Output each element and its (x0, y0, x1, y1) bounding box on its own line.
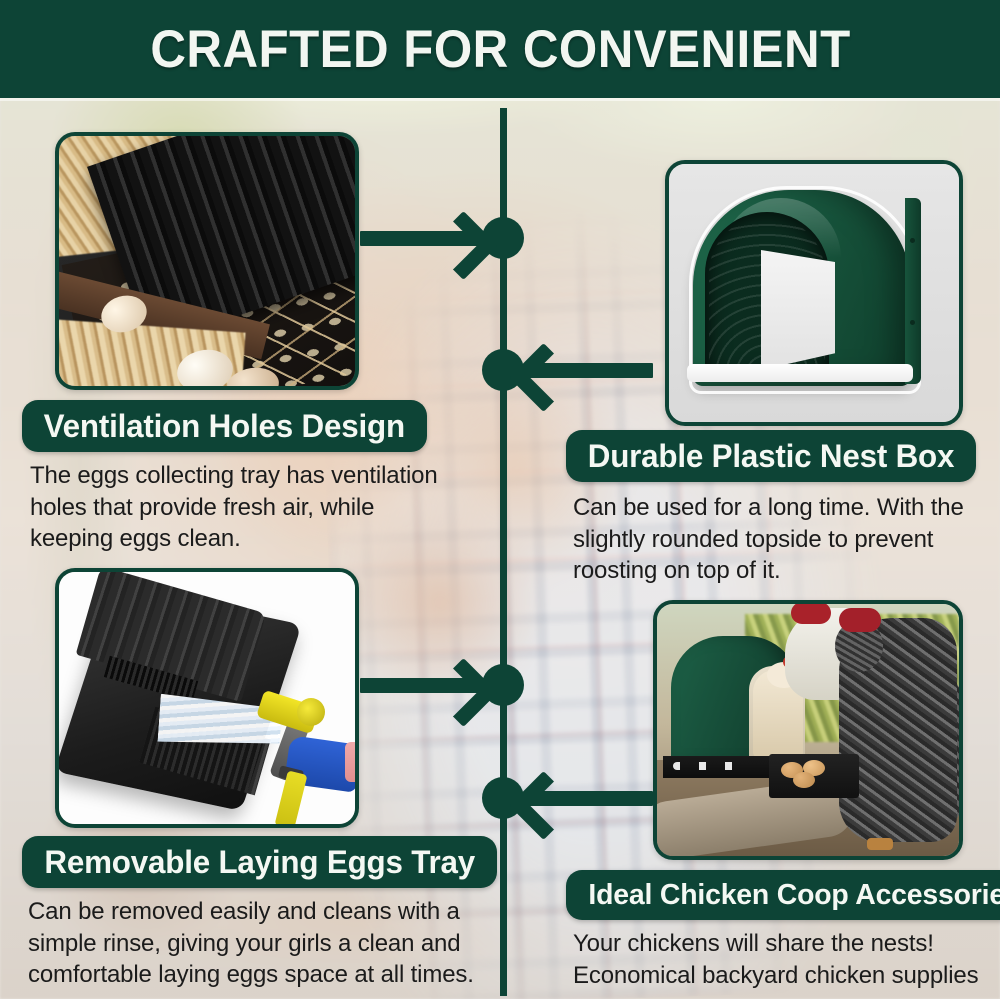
arrow-left-icon-2 (525, 363, 653, 378)
arrow-right-icon-3 (360, 678, 482, 693)
arrow-left-icon-4 (525, 791, 653, 806)
header-banner: CRAFTED FOR CONVENIENT (0, 0, 1000, 98)
feature-label-text: Removable Laying Eggs Tray (44, 844, 475, 881)
feature-label-removable-laying-eggs-tray: Removable Laying Eggs Tray (22, 836, 497, 888)
feature-image-ventilation-holes-design (55, 132, 359, 390)
feature-label-ventilation-holes-design: Ventilation Holes Design (22, 400, 427, 452)
feature-description-ventilation-holes-design: The eggs collecting tray has ventilation… (30, 460, 460, 555)
feature-description-removable-laying-eggs-tray: Can be removed easily and cleans with a … (28, 896, 488, 991)
page-title: CRAFTED FOR CONVENIENT (150, 19, 850, 80)
product-infographic: CRAFTED FOR CONVENIENT (0, 0, 1000, 999)
feature-image-ideal-chicken-coop-accessories (653, 600, 963, 860)
feature-label-ideal-chicken-coop-accessories: Ideal Chicken Coop Accessories (566, 870, 1000, 920)
feature-label-text: Durable Plastic Nest Box (588, 438, 955, 475)
feature-label-text: Ventilation Holes Design (44, 408, 405, 445)
feature-description-ideal-chicken-coop-accessories: Your chickens will share the nests! Econ… (573, 928, 1000, 991)
feature-label-durable-plastic-nest-box: Durable Plastic Nest Box (566, 430, 976, 482)
feature-description-durable-plastic-nest-box: Can be used for a long time. With the sl… (573, 492, 985, 587)
feature-image-durable-plastic-nest-box (665, 160, 963, 426)
feature-label-text: Ideal Chicken Coop Accessories (588, 879, 1000, 912)
arrow-right-icon-1 (360, 231, 482, 246)
feature-image-removable-laying-eggs-tray (55, 568, 359, 828)
header-divider (0, 98, 1000, 101)
